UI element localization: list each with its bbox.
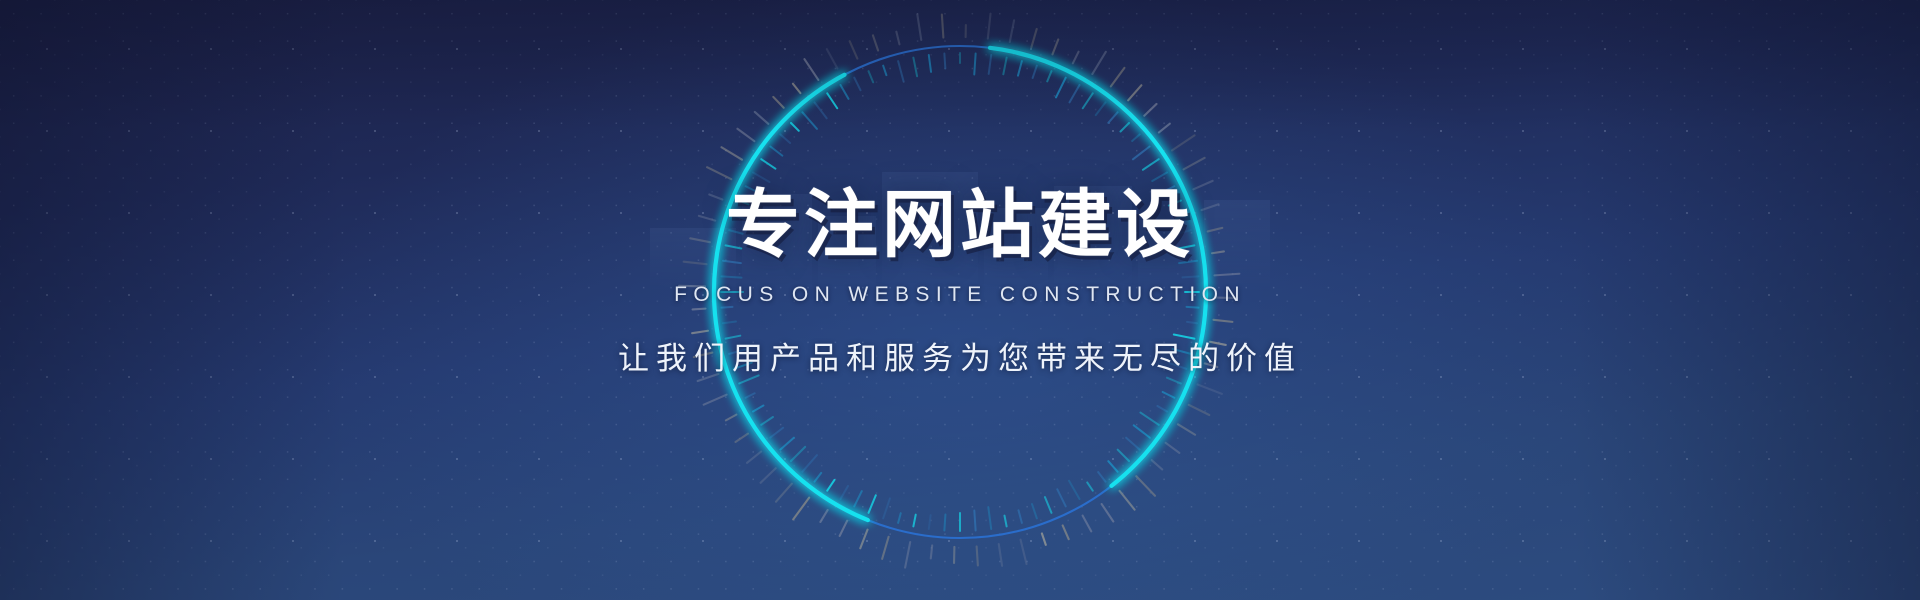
banner-content: 专注网站建设 FOCUS ON WEBSITE CONSTRUCTION 让我们… <box>0 0 1920 600</box>
subtitle-english: FOCUS ON WEBSITE CONSTRUCTION <box>674 283 1246 307</box>
subtitle-chinese: 让我们用产品和服务为您带来无尽的价值 <box>618 333 1302 378</box>
hero-banner: 专注网站建设 FOCUS ON WEBSITE CONSTRUCTION 让我们… <box>0 0 1920 600</box>
page-title: 专注网站建设 <box>726 188 1194 263</box>
